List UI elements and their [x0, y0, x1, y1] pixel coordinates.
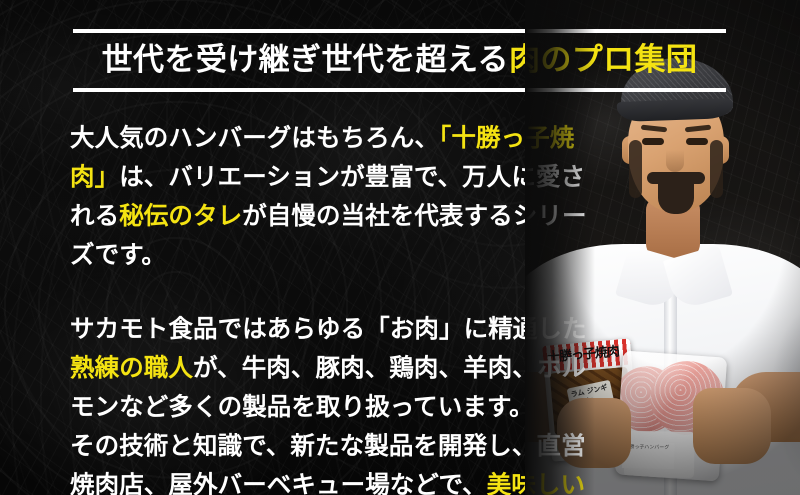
hand-right — [693, 388, 771, 464]
paragraph-2: サカモト食品ではあらゆる「お肉」に精通した熟練の職人が、牛肉、豚肉、鶏肉、羊肉、… — [70, 309, 590, 426]
p1-highlight-sauce: 秘伝のタレ — [119, 201, 242, 230]
sideburn-left — [629, 140, 642, 198]
p2-highlight-craftsmen: 熟練の職人 — [70, 353, 193, 382]
eye-left — [642, 138, 664, 145]
body-copy: 大人気のハンバーグはもちろん、「十勝っ子焼肉」は、バリエーションが豊富で、万人に… — [70, 118, 590, 495]
paragraph-1: 大人気のハンバーグはもちろん、「十勝っ子焼肉」は、バリエーションが豊富で、万人に… — [70, 118, 590, 274]
heading-text-white: 世代を受け継ぎ世代を超える — [102, 42, 509, 78]
goatee — [658, 184, 694, 214]
heading-block: 世代を受け継ぎ世代を超える肉のプロ集団 — [73, 29, 726, 92]
mustache — [647, 172, 705, 184]
p2-seg1: サカモト食品ではあらゆる「お肉」に精通した — [70, 314, 587, 343]
heading-rule-bottom — [73, 88, 726, 92]
p1-seg1: 大人気のハンバーグはもちろん、 — [70, 123, 439, 152]
eye-right — [686, 138, 708, 145]
page-title: 世代を受け継ぎ世代を超える肉のプロ集団 — [73, 33, 726, 88]
promo-banner: 十勝っ子焼肉 ラム ジンギスカン 十勝っ子ハンバーグ 世代を受け継ぎ世代を超える… — [0, 0, 800, 495]
photo-left-fade — [525, 0, 595, 495]
paragraph-3: その技術と知識で、新たな製品を開発し、直営焼肉店、屋外バーベキュー場などで、美味… — [70, 426, 590, 495]
sideburn-right — [710, 140, 723, 198]
nose — [666, 150, 684, 172]
